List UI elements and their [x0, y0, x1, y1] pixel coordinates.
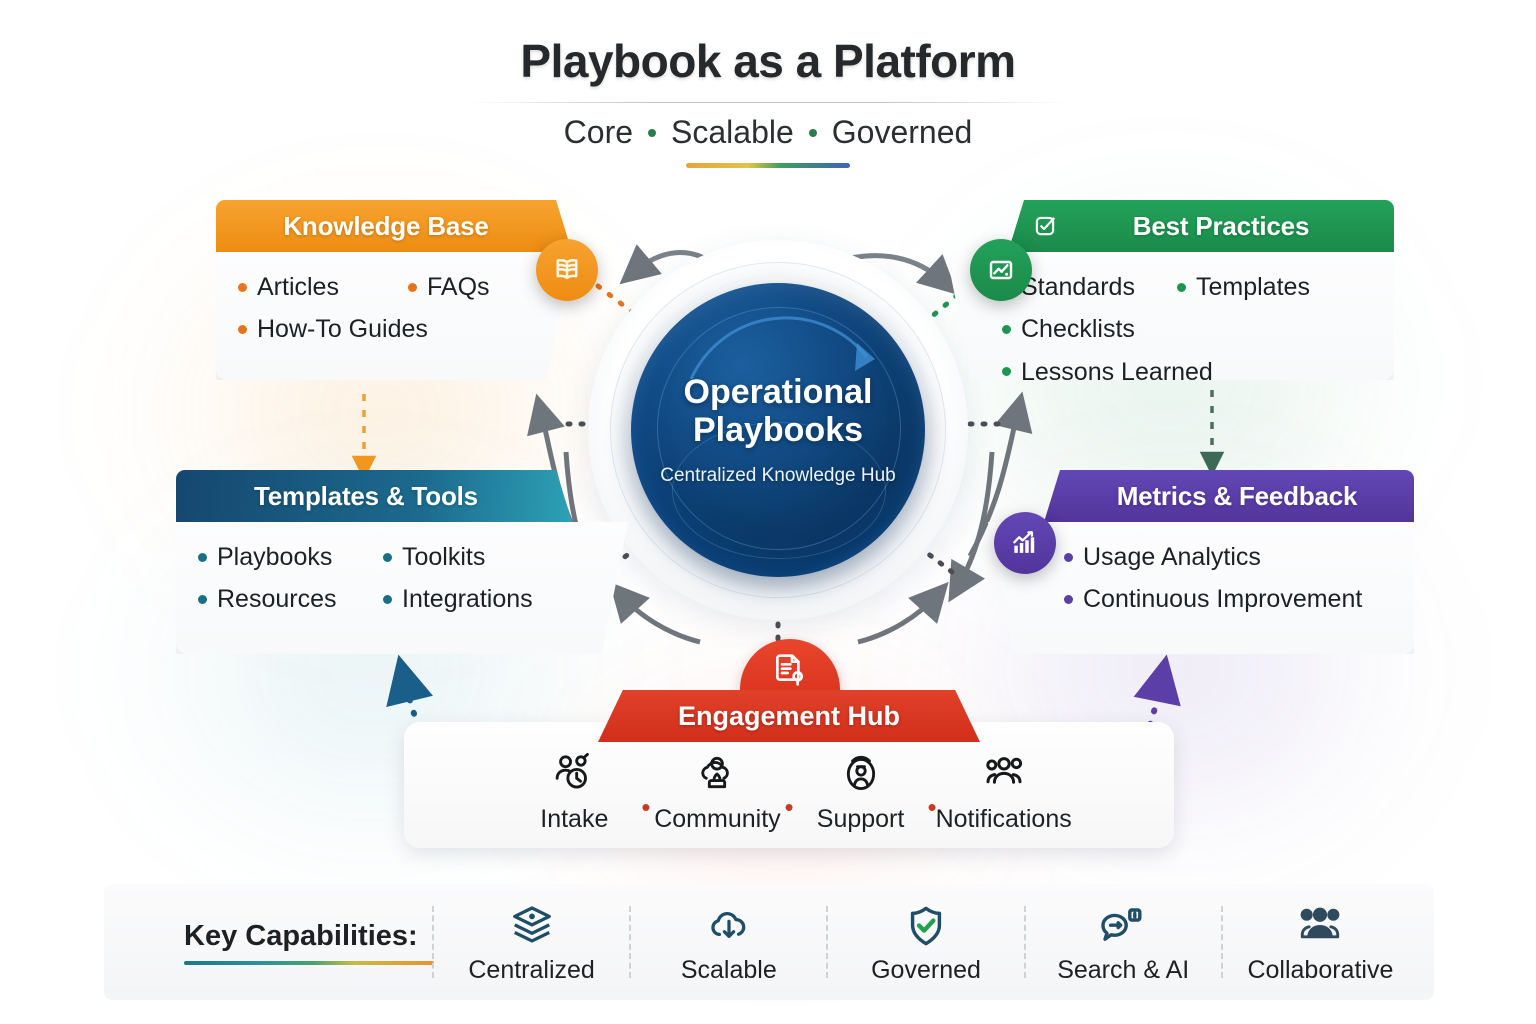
list-item: Toolkits — [383, 536, 485, 578]
list-item: Checklists — [1002, 308, 1177, 350]
capability-governed[interactable]: Governed — [834, 900, 1017, 985]
footer-accent-bar — [184, 961, 434, 965]
page-subtitle: Core Scalable Governed — [0, 114, 1536, 151]
card-best-practices[interactable]: Best Practices Standards Templates Check… — [1008, 200, 1394, 380]
bullet-dot-icon — [1064, 595, 1073, 604]
engagement-hub-banner[interactable]: Engagement Hub — [598, 690, 980, 742]
list-item-label: Usage Analytics — [1083, 544, 1261, 570]
community-cloud-icon — [694, 749, 740, 797]
card-metrics-feedback-items: Usage Analytics Continuous Improvement — [1064, 536, 1392, 621]
list-item: Continuous Improvement — [1064, 578, 1392, 620]
engagement-hub-items: Intake • Community • — [495, 749, 1082, 834]
hub-title-line2: Playbooks — [693, 411, 863, 449]
card-knowledge-base[interactable]: Knowledge Base Articles FAQs How-To Guid… — [216, 200, 572, 380]
card-metrics-feedback-title: Metrics & Feedback — [1117, 481, 1358, 512]
capability-centralized[interactable]: Centralized — [440, 900, 623, 985]
card-templates-tools-body: Playbooks Toolkits Resources Integration… — [176, 522, 628, 654]
capability-label: Scalable — [681, 956, 777, 985]
list-item-label: Playbooks — [217, 544, 332, 570]
card-knowledge-base-body: Articles FAQs How-To Guides — [216, 252, 572, 380]
footer-divider — [1024, 906, 1026, 978]
bullet-dot-icon — [383, 553, 392, 562]
list-item-label: Templates — [1196, 274, 1310, 300]
list-item-label: Continuous Improvement — [1083, 586, 1362, 612]
page-title: Playbook as a Platform — [0, 34, 1536, 88]
subtitle-dot-icon — [809, 129, 817, 137]
card-best-practices-title: Best Practices — [1133, 211, 1309, 242]
bullet-dot-icon — [1064, 553, 1073, 562]
capability-label: Centralized — [468, 956, 594, 985]
chat-info-icon — [1099, 900, 1147, 952]
list-item: Playbooks — [198, 536, 383, 578]
footer-divider — [629, 906, 631, 978]
list-item-label: Toolkits — [402, 544, 485, 570]
card-metrics-feedback-header: Metrics & Feedback — [1044, 470, 1414, 522]
card-best-practices-header: Best Practices — [1008, 200, 1394, 252]
user-intake-icon — [551, 749, 597, 797]
card-knowledge-base-items: Articles FAQs How-To Guides — [238, 266, 550, 351]
capability-search-ai[interactable]: Search & AI — [1032, 900, 1215, 985]
list-item-label: Checklists — [1021, 316, 1135, 342]
central-hub: Operational Playbooks Centralized Knowle… — [588, 240, 968, 620]
card-knowledge-base-title: Knowledge Base — [283, 211, 488, 242]
check-circle-icon — [1030, 211, 1060, 248]
hub-core: Operational Playbooks Centralized Knowle… — [631, 283, 925, 577]
title-divider — [468, 102, 1068, 103]
bullet-dot-icon — [198, 553, 207, 562]
list-item-label: FAQs — [427, 274, 490, 300]
support-lifebuoy-icon — [838, 749, 884, 797]
chart-badge-icon — [970, 239, 1032, 301]
bullet-dot-icon — [383, 595, 392, 604]
list-item-label: Lessons Learned — [1021, 359, 1213, 385]
list-item: FAQs — [408, 266, 490, 308]
capability-label: Search & AI — [1057, 956, 1189, 985]
list-item-label: Integrations — [402, 586, 533, 612]
page-header: Playbook as a Platform Core Scalable Gov… — [0, 34, 1536, 168]
document-tag-icon — [770, 650, 810, 695]
card-metrics-feedback[interactable]: Metrics & Feedback Usage Analytics Conti… — [1044, 470, 1414, 654]
list-item: Lessons Learned — [1002, 351, 1213, 393]
list-item: Resources — [198, 578, 383, 620]
footer-title-block: Key Capabilities: — [126, 920, 426, 965]
bullet-dot-icon — [1002, 367, 1011, 376]
footer-divider — [1221, 906, 1223, 978]
engagement-item-label: Community — [654, 805, 780, 834]
subtitle-part-scalable: Scalable — [671, 114, 794, 151]
engagement-item-intake[interactable]: Intake — [495, 749, 653, 834]
hub-title: Operational Playbooks — [684, 373, 873, 449]
capability-label: Governed — [871, 956, 981, 985]
card-templates-tools[interactable]: Templates & Tools Playbooks Toolkits Res… — [176, 470, 572, 654]
people-group-icon — [1295, 900, 1345, 952]
list-item: Usage Analytics — [1064, 536, 1392, 578]
key-capabilities-footer: Key Capabilities: Centralized Scalable — [104, 884, 1434, 1000]
list-item: Integrations — [383, 578, 533, 620]
card-templates-tools-items: Playbooks Toolkits Resources Integration… — [198, 536, 606, 621]
open-book-icon — [536, 239, 598, 301]
footer-title: Key Capabilities: — [184, 920, 426, 953]
footer-divider — [432, 906, 434, 978]
card-templates-tools-header: Templates & Tools — [176, 470, 572, 522]
engagement-item-label: Intake — [540, 805, 608, 834]
cloud-download-icon — [706, 900, 752, 952]
list-item: Articles — [238, 266, 408, 308]
bullet-dot-icon — [198, 595, 207, 604]
analytics-growth-icon — [994, 512, 1056, 574]
list-item-label: Articles — [257, 274, 339, 300]
header-accent-bar — [686, 163, 850, 168]
hub-title-line1: Operational — [684, 373, 873, 411]
list-item: How-To Guides — [238, 308, 550, 350]
card-best-practices-items: Standards Templates Checklists Lessons L… — [1002, 266, 1372, 393]
list-item-label: Resources — [217, 586, 337, 612]
engagement-hub-title: Engagement Hub — [678, 701, 900, 732]
capability-scalable[interactable]: Scalable — [637, 900, 820, 985]
list-item-label: Standards — [1021, 274, 1135, 300]
bullet-dot-icon — [238, 325, 247, 334]
list-item: Templates — [1177, 266, 1310, 308]
bullet-dot-icon — [1177, 283, 1186, 292]
bullet-dot-icon — [238, 283, 247, 292]
people-group-icon — [980, 749, 1028, 797]
list-item-label: How-To Guides — [257, 316, 428, 342]
engagement-item-notifications[interactable]: Notifications — [925, 749, 1083, 834]
subtitle-part-governed: Governed — [832, 114, 973, 151]
capability-label: Collaborative — [1247, 956, 1393, 985]
engagement-item-support[interactable]: Support — [782, 749, 940, 834]
capability-collaborative[interactable]: Collaborative — [1229, 900, 1412, 985]
subtitle-dot-icon — [648, 129, 656, 137]
engagement-item-community[interactable]: Community — [638, 749, 796, 834]
shield-check-icon — [903, 900, 949, 952]
engagement-item-label: Support — [817, 805, 905, 834]
subtitle-part-core: Core — [564, 114, 633, 151]
layers-icon — [509, 900, 555, 952]
hub-subtitle: Centralized Knowledge Hub — [660, 465, 896, 487]
bullet-dot-icon — [408, 283, 417, 292]
engagement-item-label: Notifications — [936, 805, 1072, 834]
bullet-dot-icon — [1002, 325, 1011, 334]
footer-divider — [826, 906, 828, 978]
card-knowledge-base-header: Knowledge Base — [216, 200, 572, 252]
card-templates-tools-title: Templates & Tools — [254, 481, 478, 512]
